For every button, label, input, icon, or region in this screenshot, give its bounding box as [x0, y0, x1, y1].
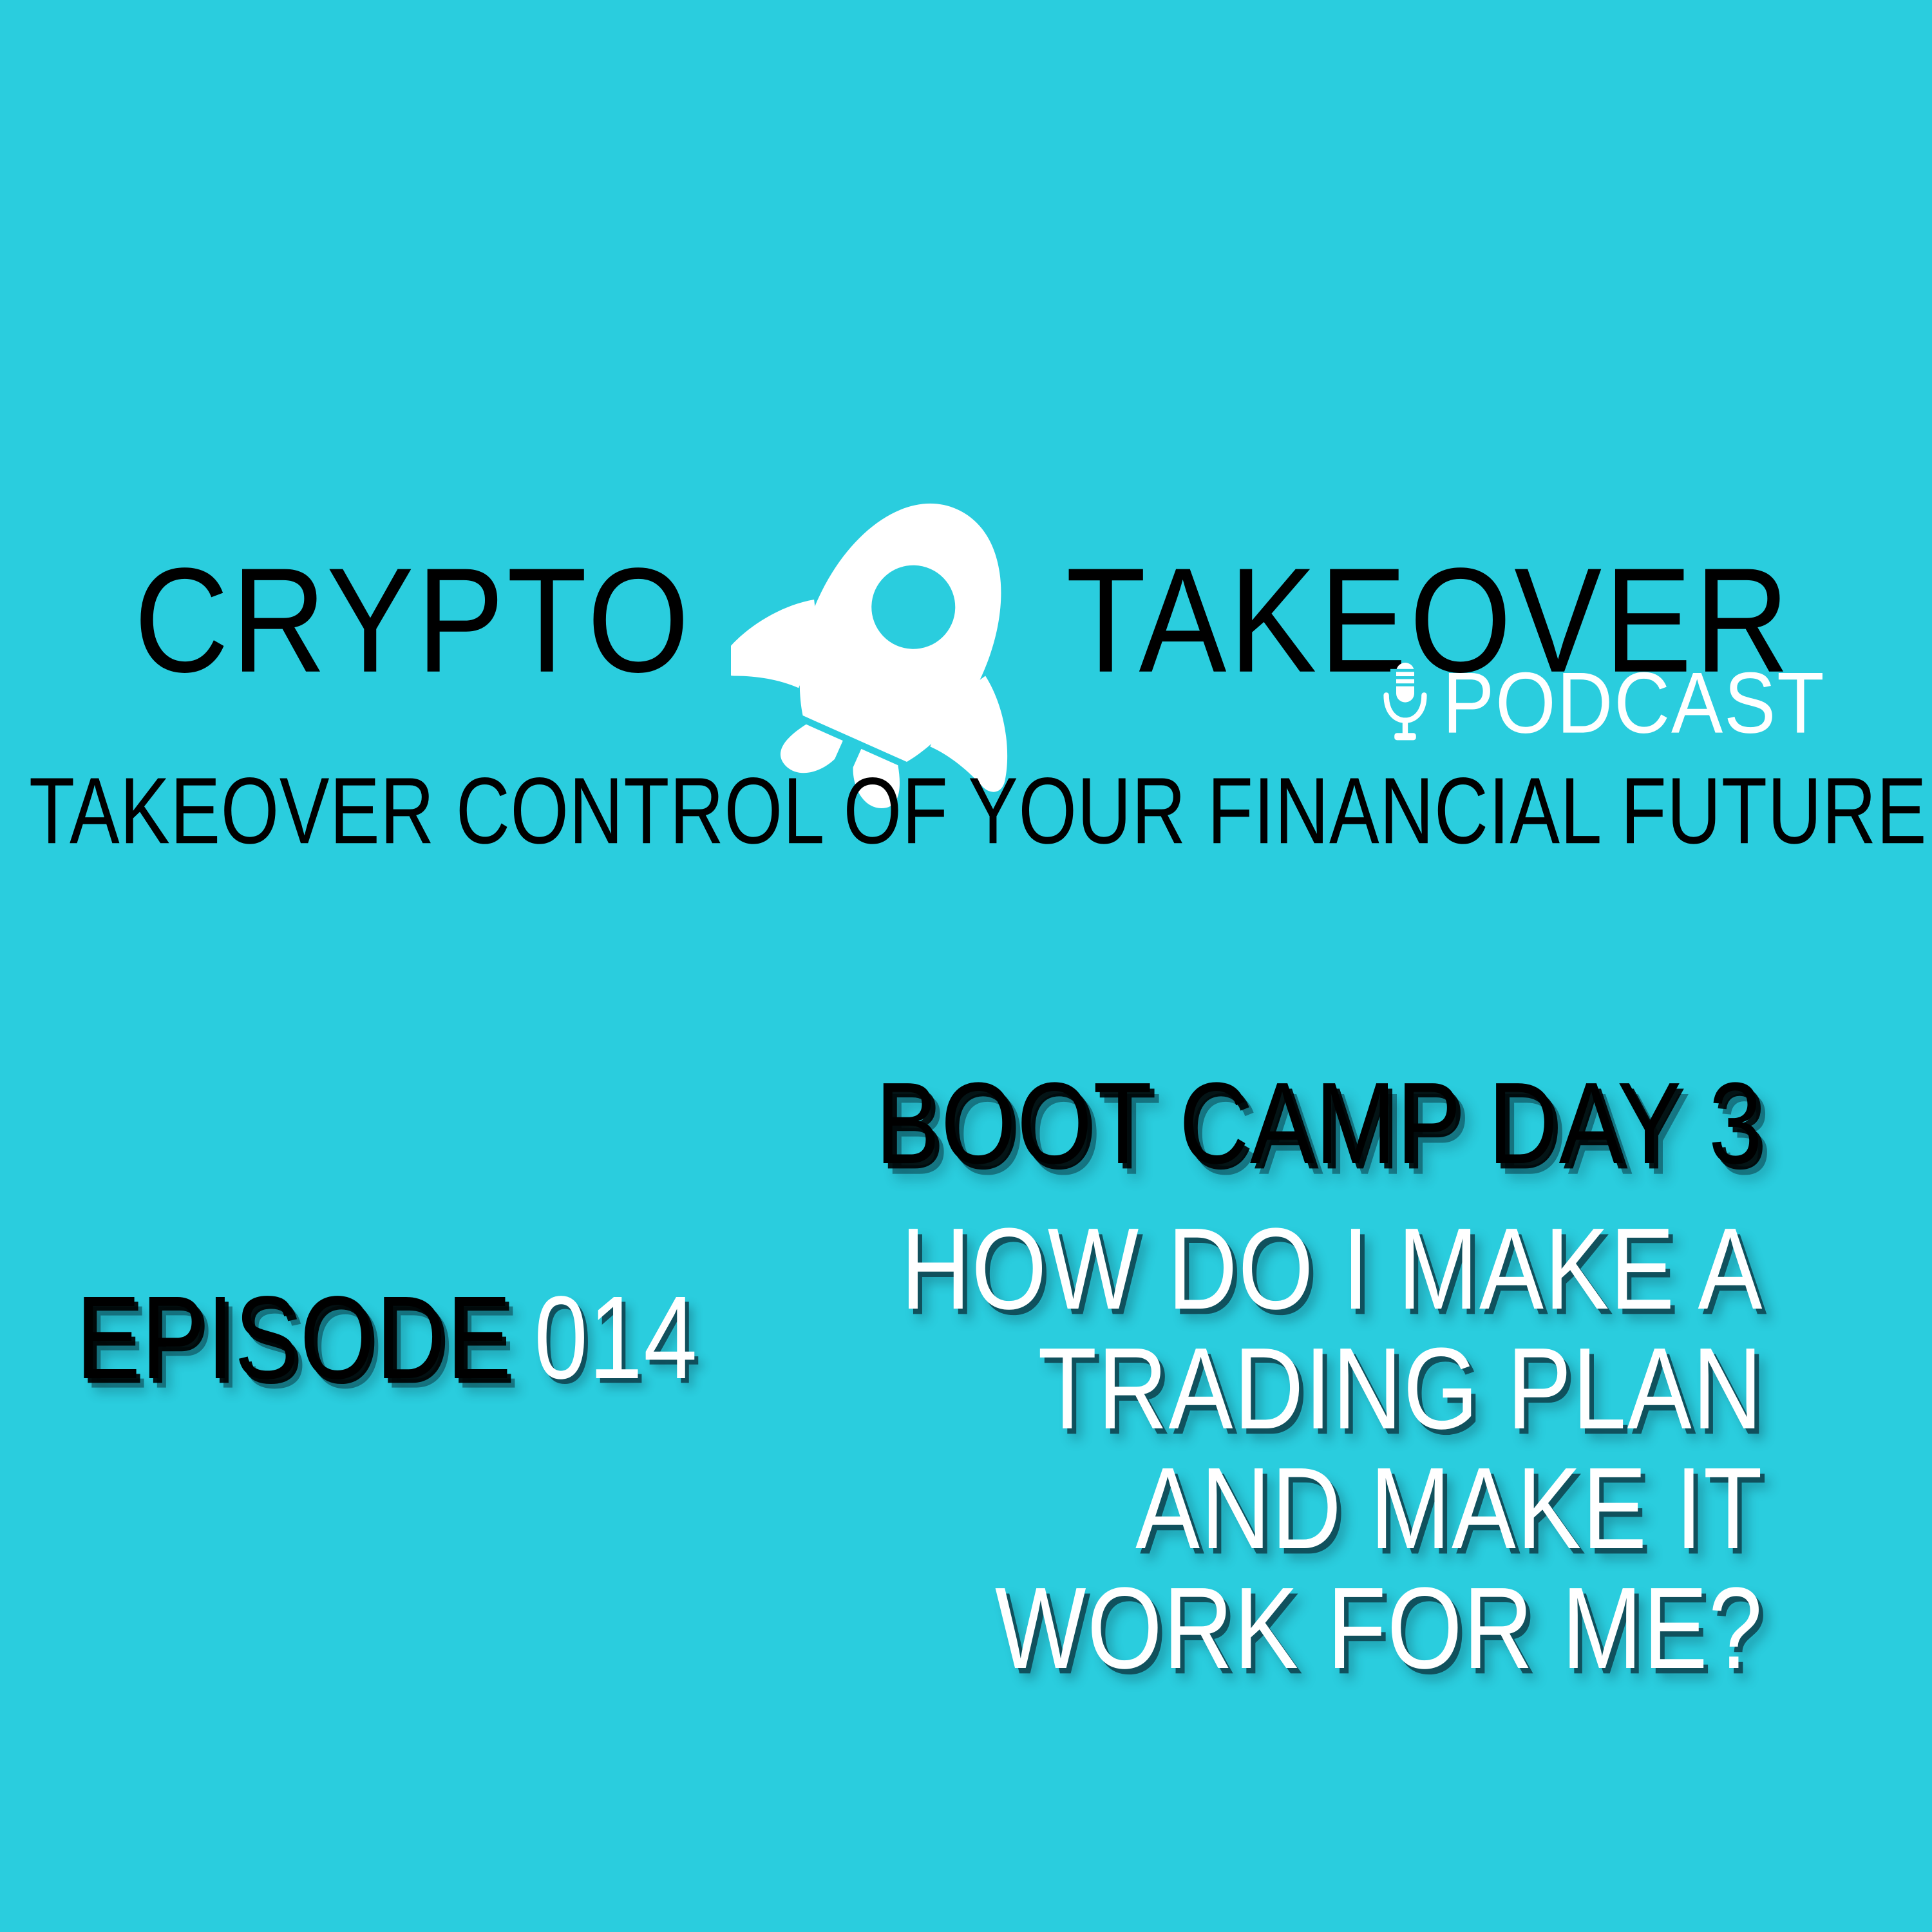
- tagline: TAKEOVER CONTROL OF YOUR FINANCIAL FUTUR…: [29, 764, 1903, 858]
- episode-number: 014: [534, 1271, 698, 1403]
- microphone-icon: [1378, 661, 1432, 746]
- brand-word-crypto: CRYPTO: [134, 546, 692, 695]
- podcast-label: PODCAST: [1443, 660, 1825, 747]
- episode-label: EPISODE: [76, 1271, 512, 1403]
- podcast-cover-art: CRYPTO TAKEOVER: [0, 0, 1932, 1932]
- podcast-lockup: PODCAST: [1378, 658, 1818, 748]
- episode-title-eyebrow: BOOT CAMP DAY 3: [759, 1051, 1763, 1195]
- episode-title-block: BOOT CAMP DAY 3 HOW DO I MAKE A TRADING …: [759, 1051, 1763, 1676]
- episode-title-line-4: WORK FOR ME?: [759, 1556, 1763, 1700]
- episode-block: EPISODE014: [76, 1278, 698, 1396]
- logo-lockup: CRYPTO TAKEOVER: [0, 509, 1932, 779]
